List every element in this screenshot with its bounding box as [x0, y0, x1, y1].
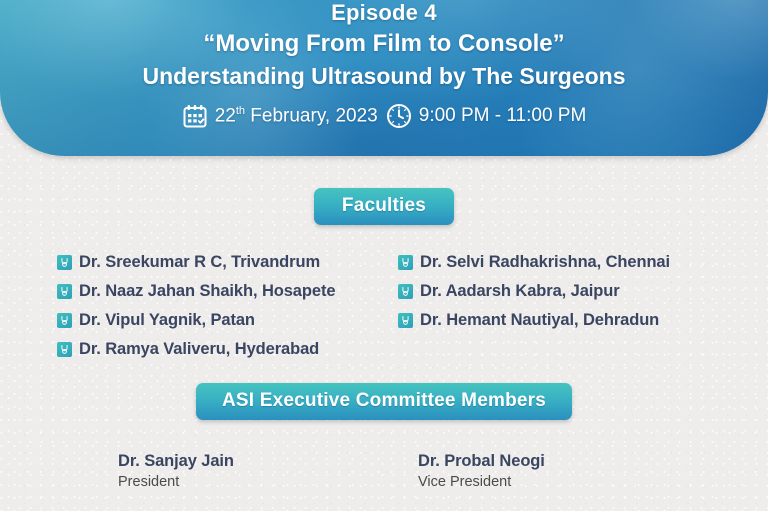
stethoscope-badge-icon: [398, 255, 413, 270]
list-item: Dr. Ramya Valiveru, Hyderabad: [57, 335, 402, 364]
list-item: Dr. Naaz Jahan Shaikh, Hosapete: [57, 277, 402, 306]
committee-section-header: ASI Executive Committee Members: [0, 383, 768, 420]
faculty-name: Dr. Aadarsh Kabra, Jaipur: [420, 282, 620, 301]
stethoscope-badge-icon: [398, 284, 413, 299]
event-date-text: 22th February, 2023: [215, 105, 378, 127]
list-item: Dr. Sreekumar R C, Trivandrum: [57, 248, 402, 277]
event-meta-row: 22th February, 2023: [0, 103, 768, 129]
list-item: Dr. Hemant Nautiyal, Dehradun: [398, 306, 743, 335]
list-item: Dr. Aadarsh Kabra, Jaipur: [398, 277, 743, 306]
stethoscope-badge-icon: [398, 313, 413, 328]
committee-members: Dr. Sanjay Jain President Dr. Probal Neo…: [0, 450, 768, 492]
list-item: Dr. Vipul Yagnik, Patan: [57, 306, 402, 335]
calendar-icon: [182, 103, 208, 129]
faculty-list: Dr. Sreekumar R C, Trivandrum Dr. Naaz J…: [0, 248, 768, 364]
faculty-column-right: Dr. Selvi Radhakrishna, Chennai Dr. Aada…: [398, 248, 743, 364]
faculties-section-header: Faculties: [0, 188, 768, 225]
list-item: Dr. Selvi Radhakrishna, Chennai: [398, 248, 743, 277]
event-time-text: 9:00 PM - 11:00 PM: [419, 105, 587, 127]
event-time: 9:00 PM - 11:00 PM: [386, 103, 587, 129]
episode-label: Episode 4: [0, 0, 768, 26]
stethoscope-badge-icon: [57, 313, 72, 328]
event-title-quoted: “Moving From Film to Console”: [0, 28, 768, 60]
event-date: 22th February, 2023: [182, 103, 378, 129]
member-name: Dr. Sanjay Jain: [118, 450, 418, 472]
faculty-name: Dr. Ramya Valiveru, Hyderabad: [79, 340, 319, 359]
event-title-subtitle: Understanding Ultrasound by The Surgeons: [0, 61, 768, 91]
faculty-name: Dr. Hemant Nautiyal, Dehradun: [420, 311, 659, 330]
faculties-badge: Faculties: [314, 188, 454, 225]
faculty-name: Dr. Sreekumar R C, Trivandrum: [79, 253, 320, 272]
committee-member-vice-president: Dr. Probal Neogi Vice President: [418, 450, 718, 492]
event-header-banner: Episode 4 “Moving From Film to Console” …: [0, 0, 768, 156]
faculty-name: Dr. Vipul Yagnik, Patan: [79, 311, 255, 330]
stethoscope-badge-icon: [57, 255, 72, 270]
stethoscope-badge-icon: [57, 342, 72, 357]
faculty-name: Dr. Selvi Radhakrishna, Chennai: [420, 253, 670, 272]
member-name: Dr. Probal Neogi: [418, 450, 718, 472]
clock-icon: [386, 103, 412, 129]
committee-member-president: Dr. Sanjay Jain President: [118, 450, 418, 492]
stethoscope-badge-icon: [57, 284, 72, 299]
faculty-name: Dr. Naaz Jahan Shaikh, Hosapete: [79, 282, 335, 301]
member-role: Vice President: [418, 472, 718, 492]
faculty-column-left: Dr. Sreekumar R C, Trivandrum Dr. Naaz J…: [57, 248, 402, 364]
asi-executive-committee-badge: ASI Executive Committee Members: [196, 383, 572, 420]
member-role: President: [118, 472, 418, 492]
